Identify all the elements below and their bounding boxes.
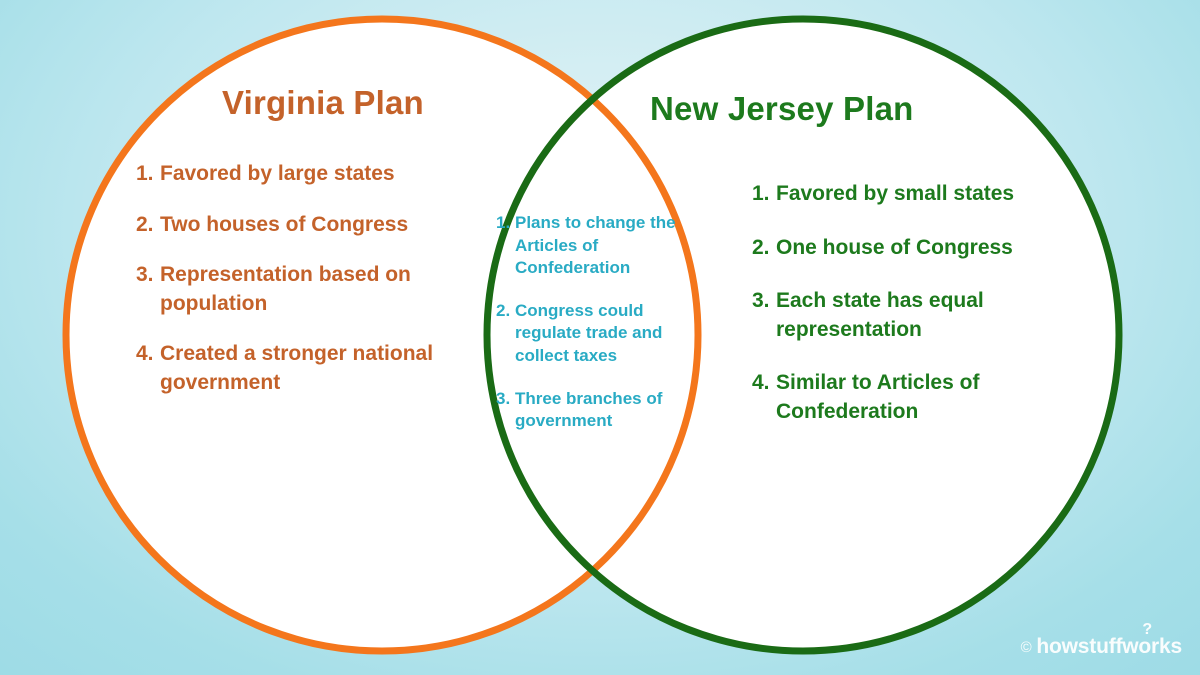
list-item: 2. Two houses of Congress <box>136 211 466 240</box>
list-item-text: Each state has equal representation <box>776 287 1112 344</box>
list-item: 1. Plans to change the Articles of Confe… <box>496 212 692 280</box>
list-item: 4. Created a stronger national governmen… <box>136 340 466 397</box>
list-item-text: Two houses of Congress <box>160 211 466 240</box>
list-item-number: 2. <box>136 211 160 240</box>
list-item-text: Plans to change the Articles of Confeder… <box>515 212 692 280</box>
left-set-list: 1. Favored by large states 2. Two houses… <box>136 160 466 419</box>
list-item-text: Created a stronger national government <box>160 340 466 397</box>
list-item-text: Three branches of government <box>515 388 692 433</box>
list-item-number: 1. <box>752 180 776 209</box>
list-item: 3. Representation based on population <box>136 261 466 318</box>
list-item-text: Favored by small states <box>776 180 1112 209</box>
list-item-text: Congress could regulate trade and collec… <box>515 300 692 368</box>
list-item: 4. Similar to Articles of Confederation <box>752 369 1112 426</box>
list-item-number: 3. <box>752 287 776 316</box>
list-item-text: Similar to Articles of Confederation <box>776 369 1112 426</box>
list-item-text: Favored by large states <box>160 160 466 189</box>
list-item-number: 1. <box>136 160 160 189</box>
list-item-number: 1. <box>496 212 515 235</box>
howstuffworks-watermark: © howstuffworks ? <box>1021 635 1182 659</box>
list-item-number: 4. <box>136 340 160 369</box>
list-item: 3. Each state has equal representation <box>752 287 1112 344</box>
list-item-number: 2. <box>496 300 515 323</box>
right-set-list: 1. Favored by small states 2. One house … <box>752 180 1112 451</box>
copyright-icon: © <box>1021 639 1032 656</box>
list-item: 1. Favored by small states <box>752 180 1112 209</box>
list-item-number: 3. <box>136 261 160 290</box>
list-item: 3. Three branches of government <box>496 388 692 433</box>
question-mark-icon: ? <box>1142 622 1152 638</box>
list-item: 1. Favored by large states <box>136 160 466 189</box>
list-item: 2. One house of Congress <box>752 234 1112 263</box>
left-set-title: Virginia Plan <box>222 84 424 122</box>
list-item-text: Representation based on population <box>160 261 466 318</box>
brand-text: howstuffworks <box>1036 635 1182 658</box>
right-set-title: New Jersey Plan <box>650 90 914 128</box>
overlap-set-list: 1. Plans to change the Articles of Confe… <box>496 212 692 453</box>
list-item-number: 4. <box>752 369 776 398</box>
list-item-number: 2. <box>752 234 776 263</box>
list-item-text: One house of Congress <box>776 234 1112 263</box>
venn-diagram-canvas: Virginia Plan New Jersey Plan 1. Favored… <box>0 0 1200 675</box>
brand-wordmark: howstuffworks ? <box>1036 635 1182 659</box>
list-item-number: 3. <box>496 388 515 411</box>
list-item: 2. Congress could regulate trade and col… <box>496 300 692 368</box>
